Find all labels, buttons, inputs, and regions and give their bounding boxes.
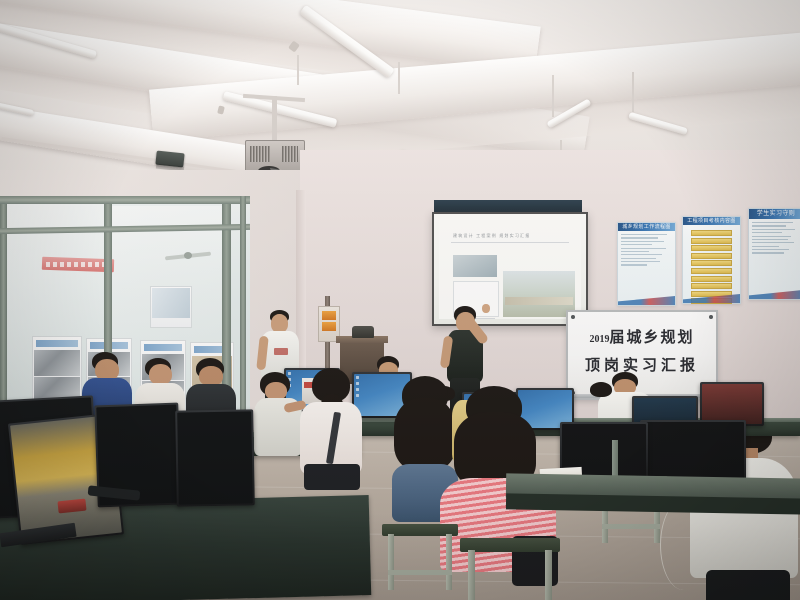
poster-text-line (752, 246, 779, 247)
monitor (640, 420, 746, 482)
poster-chip (691, 245, 732, 251)
poster-header: 城乡规划工作流程图 (618, 223, 675, 231)
poster-footer-band (749, 290, 800, 299)
wall-poster: 城乡规划工作流程图 (617, 222, 676, 306)
student-dark-lower (706, 570, 790, 600)
stool-rail (602, 524, 660, 529)
poster-text-line (621, 248, 666, 249)
board-header (36, 340, 78, 347)
poster-text-line (752, 252, 784, 253)
projector-mount (272, 96, 277, 144)
student-hair (590, 382, 612, 397)
alarm-indicator (322, 322, 336, 331)
poster-footer-band (618, 296, 675, 305)
slide-divider (451, 242, 569, 243)
light-hanger-rod (398, 62, 400, 94)
poster-text-line (621, 254, 662, 255)
stool-rail (388, 570, 452, 575)
poster-chip (691, 260, 732, 266)
poster-chip (691, 283, 732, 289)
slide-photo (503, 271, 575, 317)
whiteboard-line-1: 2019届城乡规划 (568, 326, 716, 347)
instructor-shirt-logo (274, 348, 288, 355)
poster-text-line (752, 232, 782, 233)
light-hanger-rod (297, 55, 299, 85)
poster-body (749, 219, 800, 259)
student-seated (254, 372, 306, 458)
poster-text-line (621, 251, 649, 252)
poster-chip (691, 268, 732, 274)
board-header (144, 344, 182, 351)
presentation-slide: 建筑设计 工程案例 规划实习汇报 (439, 219, 581, 319)
board-image (34, 350, 80, 376)
whiteboard-corner (571, 315, 575, 319)
poster-text-line (752, 222, 793, 223)
presenter-hand (482, 304, 490, 313)
poster-text-line (621, 234, 667, 235)
poster-text-line (621, 241, 664, 242)
poster-chip (691, 238, 732, 244)
monitor-screen (702, 384, 762, 424)
poster-text-line (752, 225, 786, 226)
light-hanger-rod (552, 75, 554, 117)
podium-object (352, 326, 374, 338)
stool-leg (545, 550, 552, 600)
slide-photo-detail (505, 297, 573, 305)
slide-title: 建筑设计 工程案例 规划实习汇报 (439, 219, 581, 239)
poster-header: 工程项目考核内容图 (683, 217, 740, 225)
poster-body (618, 231, 675, 271)
poster-chip (691, 253, 732, 259)
wall-poster: 工程项目考核内容图 (682, 216, 741, 304)
board-image (152, 288, 190, 318)
alarm-indicator (322, 311, 336, 320)
projector-vent (250, 146, 270, 162)
poster-text-line (621, 264, 647, 265)
student-head (199, 366, 223, 386)
student-seated (300, 368, 366, 484)
poster-text-line (621, 237, 658, 238)
stool-leg (388, 534, 394, 590)
poster-text-line (621, 261, 660, 262)
student-dark-lower (304, 464, 360, 490)
stool-leg (446, 534, 452, 590)
poster-text-line (752, 242, 794, 243)
stool-leg (468, 550, 475, 600)
poster-text-line (621, 258, 656, 259)
whiteboard-year: 2019 (589, 334, 609, 345)
classroom-scene: 建筑设计 工程案例 规划实习汇报 城乡规划工作流程图 工程项目考核内容图 (0, 0, 800, 600)
poster-text-line (752, 239, 788, 240)
whiteboard-corner (709, 315, 713, 319)
monitor-screen (642, 422, 744, 480)
whiteboard-line1-text: 届城乡规划 (609, 330, 694, 346)
poster-chip (691, 276, 732, 282)
banner-text-blur (46, 262, 110, 267)
student-far-row (586, 382, 620, 422)
light-hanger-rod (632, 72, 634, 112)
projector-vent (282, 146, 298, 162)
wall-poster: 学生实习守则 (748, 208, 800, 300)
poster-chip (691, 230, 732, 236)
student-head (149, 364, 172, 385)
window-mullion (0, 196, 250, 204)
poster-header: 学生实习守则 (749, 209, 800, 219)
slide-photo (453, 255, 497, 277)
monitor-screen (177, 411, 253, 504)
poster-text-line (752, 229, 795, 230)
ceiling-fan-hub (184, 252, 192, 259)
poster-text-line (752, 236, 791, 237)
cable (660, 500, 707, 590)
exhibition-board (150, 286, 192, 328)
window-mullion (240, 196, 246, 431)
monitor-foreground (175, 409, 255, 506)
poster-text-line (752, 249, 789, 250)
poster-text-line (621, 244, 652, 245)
